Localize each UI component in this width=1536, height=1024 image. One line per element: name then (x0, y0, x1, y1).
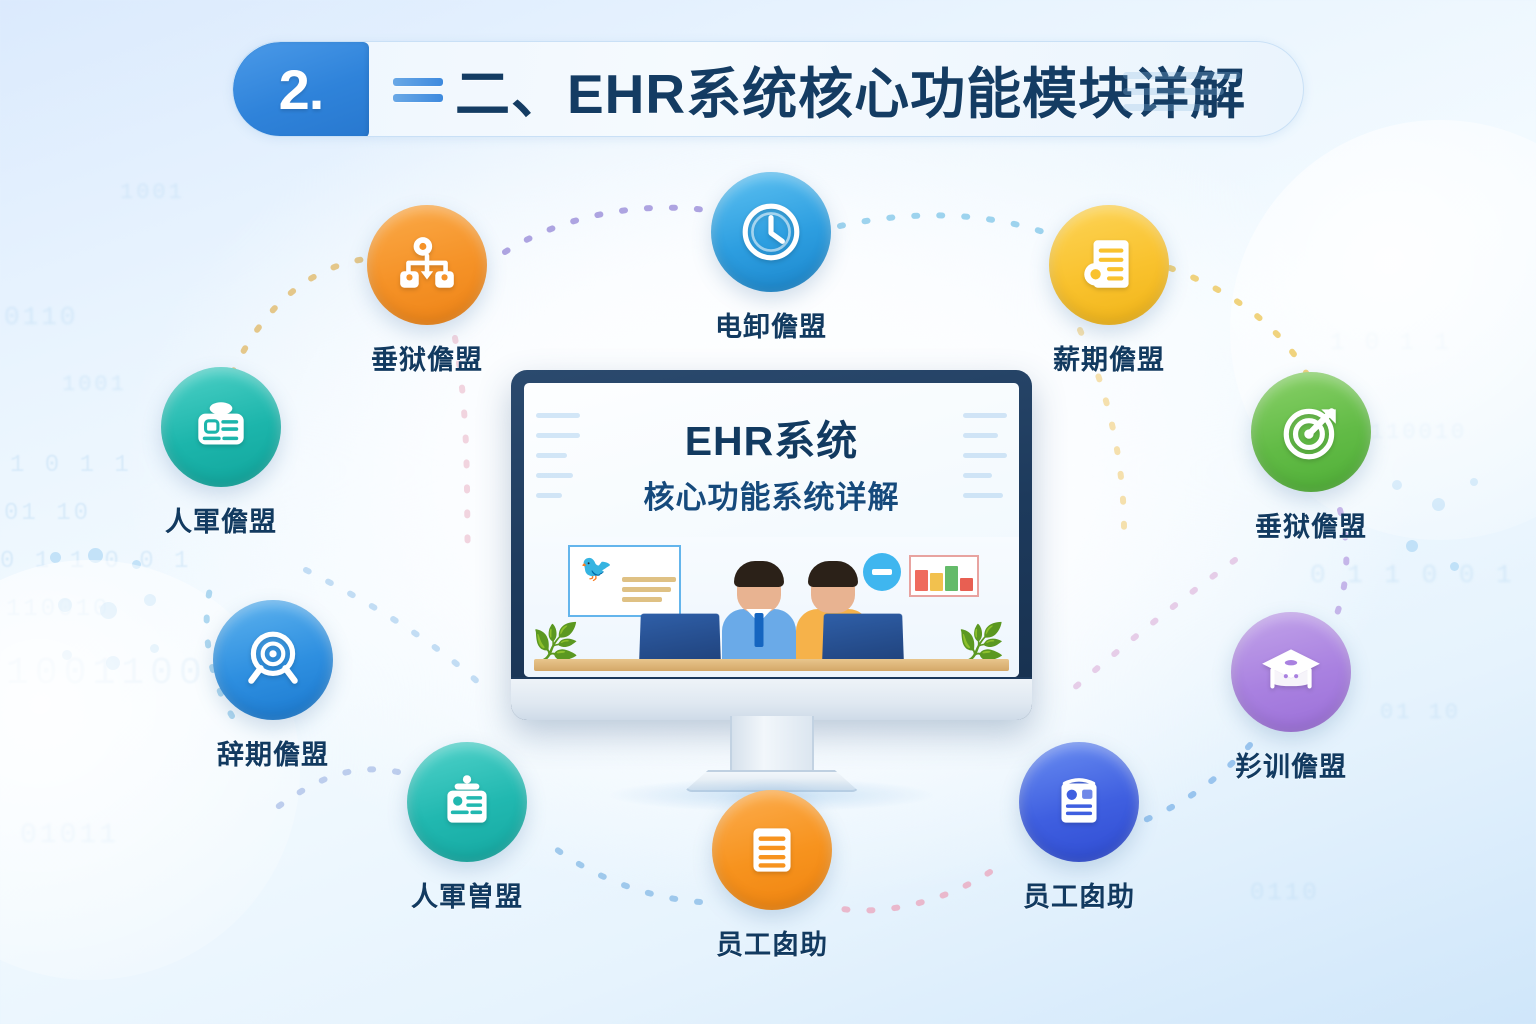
node-label-self-service: 员工囱助 (994, 875, 1164, 914)
header-decorative-lines (1123, 72, 1241, 120)
monitor-neck (730, 716, 814, 774)
node-attendance-management[interactable]: 电卸儋盟 (686, 172, 856, 344)
node-label-performance: 垂狱儋盟 (1226, 505, 1396, 544)
monitor-bezel: EHR系统 核心功能系统详解 🐦 🌿 🌿 (511, 370, 1032, 720)
header-dash-decoration (393, 78, 443, 102)
central-monitor: EHR系统 核心功能系统详解 🐦 🌿 🌿 (511, 370, 1032, 720)
code-snippet: 1001 (62, 372, 127, 397)
background-dot-grid-secondary (1380, 470, 1520, 630)
code-snippet: 1001100 (6, 652, 208, 695)
id-card-icon (188, 394, 254, 460)
wall-poster: 🐦 (568, 545, 681, 617)
node-recruitment-management[interactable]: 辞期儋盟 (188, 600, 358, 772)
node-training-management[interactable]: 羏训儋盟 (1206, 612, 1376, 784)
code-snippet: 0 1 1 0 0 1 (0, 548, 191, 575)
section-number-badge: 2. (233, 42, 369, 137)
clock-icon (738, 199, 804, 265)
node-circle-payroll[interactable] (1049, 205, 1169, 325)
code-snippet: 0110 (1250, 880, 1320, 907)
document-lines-icon (739, 817, 805, 883)
code-snippet: 01 10 (1380, 700, 1461, 725)
node-hr-management[interactable]: 人軍儋盟 (136, 367, 306, 539)
code-snippet: 01 10 (4, 500, 91, 527)
section-number-text: 2. (279, 62, 324, 118)
code-snippet: 0110 (4, 302, 78, 332)
bar-chart-card (909, 555, 979, 597)
node-org-management[interactable]: 垂狱儋盟 (342, 205, 512, 377)
node-payroll-management[interactable]: 薪期儋盟 (1024, 205, 1194, 377)
male-necktie (755, 613, 764, 647)
female-head (811, 567, 855, 613)
node-label-report: 员工囱助 (687, 923, 857, 962)
node-label-hr: 人軍儋盟 (136, 500, 306, 539)
node-circle-org[interactable] (367, 205, 487, 325)
node-label-training: 羏训儋盟 (1206, 745, 1376, 784)
code-snippet: 110010 (6, 596, 110, 623)
org-chart-icon (394, 232, 460, 298)
node-circle-performance[interactable] (1251, 372, 1371, 492)
node-employee-self-service[interactable]: 员工囱助 (994, 742, 1164, 914)
monitor-chin (511, 677, 1032, 720)
laptop-left (639, 614, 721, 662)
graduation-cap-icon (1258, 639, 1324, 705)
node-circle-recruitment[interactable] (213, 600, 333, 720)
potted-plant-right-icon: 🌿 (958, 625, 1005, 663)
screen-title-block: EHR系统 核心功能系统详解 (524, 407, 1019, 517)
node-circle-report[interactable] (712, 790, 832, 910)
screen-title-line1: EHR系统 (524, 407, 1019, 467)
node-label-hr-secondary: 人軍曽盟 (382, 875, 552, 914)
code-snippet: 1 0 1 1 (10, 452, 132, 479)
employee-card-icon (1046, 769, 1112, 835)
node-label-recruitment: 辞期儋盟 (188, 733, 358, 772)
target-arrow-icon (1278, 399, 1344, 465)
laptop-right (822, 614, 904, 662)
payslip-icon (1076, 232, 1142, 298)
bird-icon: 🐦 (580, 555, 612, 581)
node-circle-hr-secondary[interactable] (407, 742, 527, 862)
node-circle-training[interactable] (1231, 612, 1351, 732)
node-performance-management[interactable]: 垂狱儋盟 (1226, 372, 1396, 544)
node-hr-management-secondary[interactable]: 人軍曽盟 (382, 742, 552, 914)
node-label-attendance: 电卸儋盟 (686, 305, 856, 344)
section-header-bar: 2. 二、EHR系统核心功能模块详解 (232, 41, 1304, 137)
node-report-module[interactable]: 员工囱助 (687, 790, 857, 962)
id-badge-icon (434, 769, 500, 835)
node-label-payroll: 薪期儋盟 (1024, 338, 1194, 377)
node-circle-hr[interactable] (161, 367, 281, 487)
node-circle-attendance[interactable] (711, 172, 831, 292)
code-snippet: 01011 (20, 820, 119, 851)
code-snippet: 1 0 1 1 (1330, 330, 1452, 357)
screen-title-line2: 核心功能系统详解 (524, 472, 1019, 517)
potted-plant-left-icon: 🌿 (532, 625, 579, 663)
poster-bars (622, 577, 676, 607)
code-snippet: 0 1 1 0 0 1 (1310, 560, 1515, 590)
male-head (737, 567, 781, 613)
node-circle-self-service[interactable] (1019, 742, 1139, 862)
person-male (722, 567, 796, 661)
office-illustration: 🐦 🌿 🌿 (524, 537, 1019, 677)
code-snippet: 1001 (120, 180, 185, 205)
monitor-screen: EHR系统 核心功能系统详解 🐦 🌿 🌿 (524, 383, 1019, 677)
search-target-icon (240, 627, 306, 693)
node-label-org: 垂狱儋盟 (342, 338, 512, 377)
wooden-desk (534, 659, 1009, 671)
